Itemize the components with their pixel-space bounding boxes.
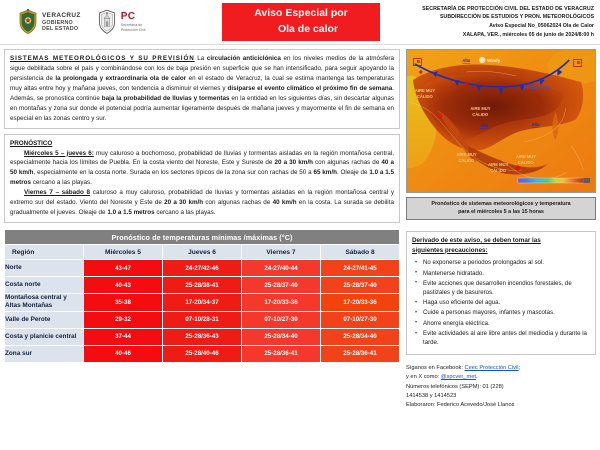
precautions-title-line2: siguientes precauciones: [412,247,488,254]
table-cell-temperature: 25-28/37-40 [242,277,321,294]
precaution-item: Haga uso eficiente del agua. [423,299,590,308]
table-cell-region: Valle de Perote [5,311,84,328]
temperature-table-wrapper: Pronóstico de temperaturas mínimas /máxi… [4,229,400,363]
table-cell-temperature: 07-10/28-31 [163,311,242,328]
table-cell-temperature: 24-27/40-44 [242,260,321,277]
temperature-table-head: Pronóstico de temperaturas mínimas /máxi… [5,230,400,260]
pc-subtitle: Secretaría de Protección Civil [121,23,146,33]
forecast-day1-b3: 65 km/h [313,169,337,176]
svg-text:Alta: Alta [480,123,488,128]
table-cell-temperature: 24-27/42-46 [163,260,242,277]
forecast-box: PRONÓSTICO Miércoles 5 – jueves 6: muy c… [4,134,400,224]
forecast-day2-t2: con algunas rachas de [203,199,272,206]
systems-b4: baja la probabilidad de lluvias y tormen… [102,95,230,102]
table-cell-temperature: 25-28/34-40 [242,328,321,345]
table-cell-temperature: 25-28/38-41 [163,277,242,294]
svg-text:AIRE MUY: AIRE MUY [516,154,536,159]
table-cell-region: Montañosa central y Altas Montañas [5,294,84,312]
forecast-title: PRONÓSTICO [10,139,394,149]
table-cell-temperature: 35-38 [84,294,163,312]
forecast-day2-b3: 1.0 a 1.5 metros [107,209,154,216]
table-col-day-2: Jueves 6 [163,245,242,260]
systems-b3: disiparse el evento climático el próximo… [228,85,393,92]
contact-info: Síganos en Facebook: Ceec Protección Civ… [406,364,596,410]
svg-text:CÁLIDO: CÁLIDO [458,158,475,163]
document-header: VERACRUZ GOBIERNO DEL ESTADO [0,0,600,45]
table-cell-region: Costa norte [5,277,84,294]
table-cell-temperature: 25-28/34-40 [321,328,400,345]
notice-number-line: Aviso Especial No_05062024 Ola de Calor [489,22,594,31]
table-cell-region: Costa y planicie central [5,328,84,345]
precaution-item: Evite actividades al aire libre antes de… [423,330,590,348]
pc-subtitle-line2: Protección Civil [121,28,146,32]
precautions-title-line1: Derivado de este aviso, se deben tomar l… [412,237,541,244]
forecast-day1-t4: . Oleaje de [337,169,369,176]
forecast-day2-paragraph: Viernes 7 – sábado 8 caluroso a muy calu… [10,188,394,218]
x-handle-link[interactable]: @spcver_met [441,374,476,380]
map-caption-line2: para el miércoles 5 a las 15 horas [458,209,544,215]
precautions-list: No exponerse a periodos prolongados al s… [412,259,590,347]
logo-area: VERACRUZ GOBIERNO DEL ESTADO [0,0,222,44]
precautions-box: Derivado de este aviso, se deben tomar l… [406,231,596,355]
table-row: Norte43-4724-27/42-4624-27/40-4424-27/41… [5,260,400,277]
table-col-day-4: Sábado 8 [321,245,400,260]
table-cell-region: Zona sur [5,345,84,362]
svg-text:CÁLIDO: CÁLIDO [518,160,535,165]
forecast-day1-paragraph: Miércoles 5 – jueves 6: muy caluroso a b… [10,149,394,189]
table-cell-temperature: 25-28/37-40 [321,277,400,294]
systems-title: SISTEMAS METEOROLÓGICOS Y SU PREVISIÓN [10,55,195,62]
systems-b2: la prolongada y extraordinaria ola de ca… [55,75,186,82]
table-cell-temperature: 17-20/34-37 [163,294,242,312]
facebook-prefix: Síganos en Facebook: [406,365,465,371]
table-cell-temperature: 07-10/27-30 [242,311,321,328]
svg-text:Alta: Alta [532,122,540,127]
document-body: SISTEMAS METEOROLÓGICOS Y SU PREVISIÓN L… [0,45,600,410]
aviso-especial-document: VERACRUZ GOBIERNO DEL ESTADO [0,0,600,450]
right-column: B B Alta Alta Alta [404,49,600,410]
meteorological-systems-box: SISTEMAS METEOROLÓGICOS Y SU PREVISIÓN L… [4,49,400,129]
precautions-title: Derivado de este aviso, se deben tomar l… [412,236,590,256]
agency-name-line: SECRETARÍA DE PROTECCIÓN CIVIL DEL ESTAD… [422,5,594,14]
table-cell-temperature: 24-27/41-45 [321,260,400,277]
systems-b1: circulación anticiclónica [207,55,281,62]
table-cell-region: Norte [5,260,84,277]
table-cell-temperature: 25-28/36-43 [163,328,242,345]
precaution-item: Ahorre energía eléctrica. [423,320,590,329]
precaution-item: Evite acciones que desarrollen incendios… [423,280,590,298]
table-row: Valle de Perote29-3207-10/28-3107-10/27-… [5,311,400,328]
alert-banner-line1: Aviso Especial por [254,6,348,22]
header-agency-info: SECRETARÍA DE PROTECCIÓN CIVIL DEL ESTAD… [380,0,600,44]
veracruz-logo-line3: DEL ESTADO [42,26,78,32]
table-row: Costa y planicie central37-4425-28/36-43… [5,328,400,345]
table-cell-temperature: 37-44 [84,328,163,345]
systems-t1: La [195,55,207,62]
veracruz-crest-icon [18,9,38,35]
svg-text:AIRE MUY: AIRE MUY [415,88,435,93]
x-suffix: . [476,374,478,380]
phones-line2: 1414538 y 1414523 [406,393,456,399]
proteccion-civil-logo: PC Secretaría de Protección Civil [97,9,146,35]
authors-line: Elaboraron: Federico Acevedo/José Llanos [406,402,514,408]
temperature-table: Pronóstico de temperaturas mínimas /máxi… [4,229,400,363]
forecast-day1-t5: cercano a las playas. [31,179,92,186]
weather-map: B B Alta Alta Alta [406,49,596,193]
svg-text:Windy: Windy [487,58,501,63]
table-cell-temperature: 25-28/36-41 [242,345,321,362]
forecast-day1-t2: con algunas rachas de [313,159,381,166]
svg-text:Alta: Alta [462,58,470,63]
table-col-day-1: Miércoles 5 [84,245,163,260]
table-title: Pronóstico de temperaturas mínimas /máxi… [5,230,400,245]
x-prefix: y en X como: [406,374,441,380]
map-caption: Pronóstico de sistemas meteorológicos y … [406,197,596,220]
table-cell-temperature: 29-32 [84,311,163,328]
precaution-item: Mantenerse hidratado. [423,270,590,279]
temperature-table-body: Norte43-4724-27/42-4624-27/40-4424-27/41… [5,260,400,363]
table-cell-temperature: 43-47 [84,260,163,277]
svg-text:Frente Frío: Frente Frío [524,85,550,91]
forecast-day1-label: Miércoles 5 – jueves 6: [24,150,94,157]
forecast-day2-label: Viernes 7 – sábado 8 [24,189,90,196]
table-cell-temperature: 40-43 [84,277,163,294]
table-row: Zona sur40-4625-28/40-4625-28/36-4125-28… [5,345,400,362]
table-cell-temperature: 25-28/40-46 [163,345,242,362]
pc-logo-text: PC Secretaría de Protección Civil [121,12,146,33]
agency-subdivision-line: SUBDIRECCIÓN DE ESTUDIOS Y PRON. METEORO… [440,13,594,22]
precaution-item: No exponerse a periodos prolongados al s… [423,259,590,268]
svg-text:AIRE MUY: AIRE MUY [488,162,508,167]
phones-line1: Números telefónicos (SEPM): 01 (228) [406,384,504,390]
table-cell-temperature: 25-28/36-41 [321,345,400,362]
veracruz-logo-line1: VERACRUZ [42,12,81,19]
table-col-day-3: Viernes 7 [242,245,321,260]
forecast-day1-t3: , especialmente en la costa norte. Surad… [34,169,314,176]
svg-text:CÁLIDO: CÁLIDO [417,94,434,99]
forecast-day2-b1: 20 a 30 km/h [164,199,203,206]
left-column: SISTEMAS METEOROLÓGICOS Y SU PREVISIÓN L… [0,49,404,410]
table-title-row: Pronóstico de temperaturas mínimas /máxi… [5,230,400,245]
table-col-region: Región [5,245,84,260]
table-row: Montañosa central y Altas Montañas35-381… [5,294,400,312]
alert-banner: Aviso Especial por Ola de calor [222,3,380,41]
facebook-suffix: ; [519,365,521,371]
issue-datetime-line: XALAPA, VER., miércoles 05 de junio de 2… [463,31,594,40]
precaution-item: Cuide a personas mayores, infantes y mas… [423,309,590,318]
svg-text:AIRE MUY: AIRE MUY [456,152,476,157]
veracruz-government-logo: VERACRUZ GOBIERNO DEL ESTADO [18,9,81,35]
forecast-day1-b1: 20 a 30 km/h [275,159,313,166]
svg-text:CÁLIDO: CÁLIDO [472,112,489,117]
forecast-day2-t4: cercano a las playas. [155,209,216,216]
alert-banner-line2: Ola de calor [264,22,338,38]
proteccion-civil-crest-icon [97,9,117,35]
table-cell-temperature: 40-46 [84,345,163,362]
svg-text:CÁLIDO: CÁLIDO [490,168,507,173]
pc-subtitle-line1: Secretaría de [121,23,143,27]
facebook-link[interactable]: Ceec Protección Civil [465,365,519,371]
map-caption-line1: Pronóstico de sistemas meteorológicos y … [431,201,570,207]
forecast-day2-b2: 40 km/h [273,199,297,206]
table-cell-temperature: 07-10/27-30 [321,311,400,328]
table-cell-temperature: 17-20/33-36 [321,294,400,312]
svg-text:AIRE MUY: AIRE MUY [470,106,490,111]
pc-abbreviation: PC [121,12,146,22]
table-row: Costa norte40-4325-28/38-4125-28/37-4025… [5,277,400,294]
table-cell-temperature: 17-20/33-36 [242,294,321,312]
table-header-row: RegiónMiércoles 5Jueves 6Viernes 7Sábado… [5,245,400,260]
veracruz-logo-text: VERACRUZ GOBIERNO DEL ESTADO [42,12,81,31]
